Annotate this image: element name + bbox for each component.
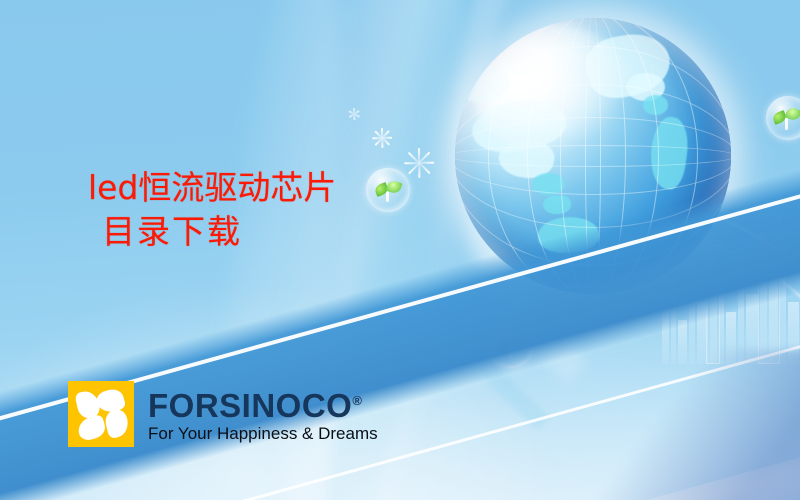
brand-name: FORSINOCO® xyxy=(148,384,378,423)
sparkle-icon xyxy=(348,108,360,120)
petal-3 xyxy=(75,414,107,443)
petal-2 xyxy=(103,408,131,440)
sparkle-icon xyxy=(404,148,434,178)
banner-image: led恒流驱动芯片 目录下载 FORSINOCO® For Your Happi… xyxy=(0,0,800,500)
headline-line-2: 目录下载 xyxy=(102,210,336,254)
headline-line-1: led恒流驱动芯片 xyxy=(88,166,336,210)
wordmark: FORSINOCO® For Your Happiness & Dreams xyxy=(148,384,378,444)
four-petal-pinwheel-icon xyxy=(68,381,134,447)
sparkle-icon xyxy=(372,128,392,148)
bubble-leaf-icon xyxy=(366,168,410,212)
brand-text: FORSINOCO xyxy=(148,387,352,424)
headline: led恒流驱动芯片 目录下载 xyxy=(88,166,336,254)
registered-mark: ® xyxy=(352,393,362,408)
logo: FORSINOCO® For Your Happiness & Dreams xyxy=(68,381,378,447)
bubble-leaf-icon xyxy=(766,96,800,140)
brand-tagline: For Your Happiness & Dreams xyxy=(148,424,378,444)
